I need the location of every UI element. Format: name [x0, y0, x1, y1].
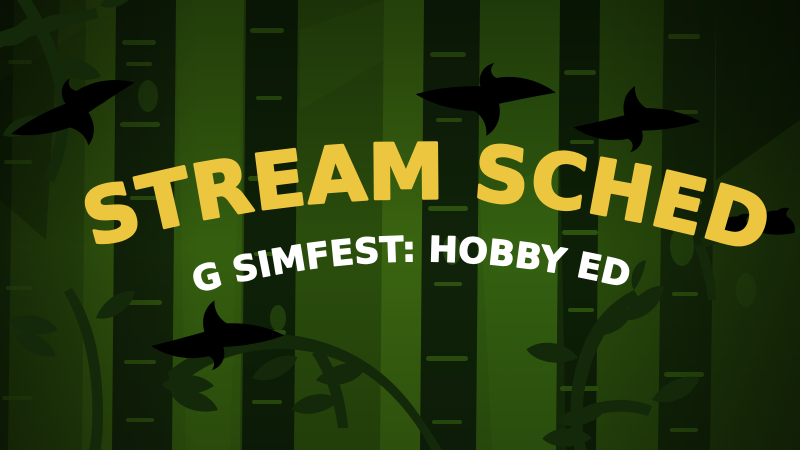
live-stream-schedule-banner: LIVE STREAM SCHEDULE DURING SIMFEST: HOB… — [0, 0, 800, 450]
headline-group: LIVE STREAM SCHEDULE DURING SIMFEST: HOB… — [0, 0, 800, 450]
